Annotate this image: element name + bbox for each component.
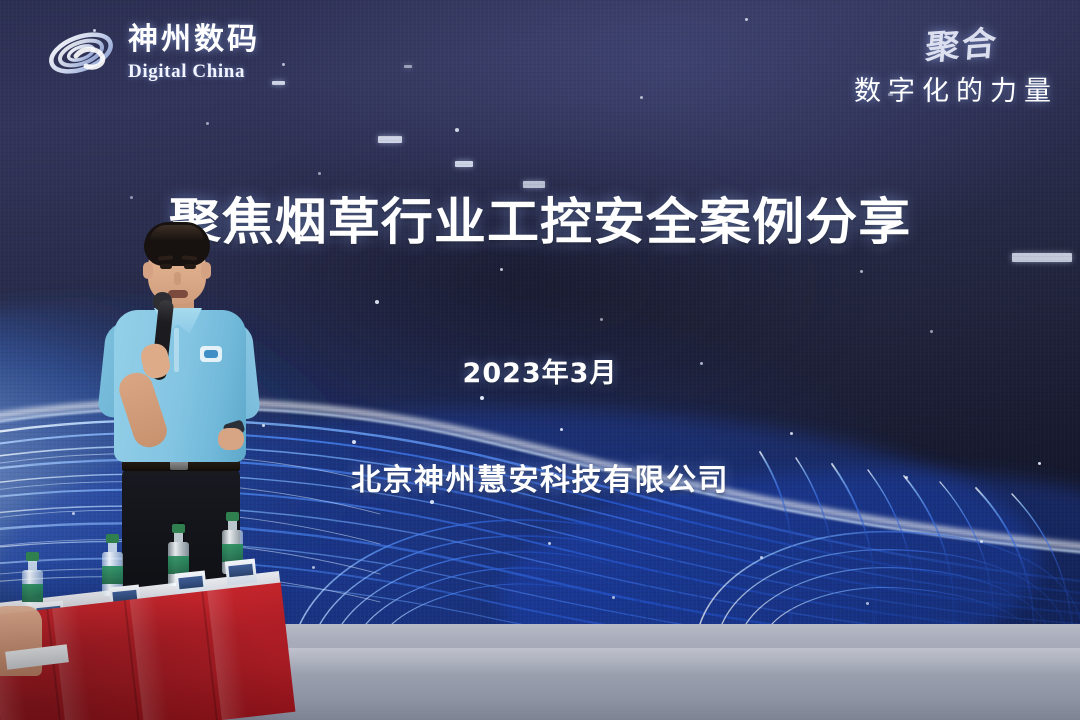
presenter-shirt-logo xyxy=(200,346,222,362)
name-card xyxy=(225,558,257,585)
presenter-hair xyxy=(144,222,210,266)
presenter-right-hand xyxy=(218,428,244,450)
campaign-tagline: 数字化的力量 xyxy=(854,69,1058,108)
digital-china-logo: 神州数码 Digital China xyxy=(46,22,260,84)
presenter-nose xyxy=(174,272,181,285)
presenter-right-eye xyxy=(184,264,196,269)
foreground-head-table xyxy=(0,556,286,720)
brand-name-cn: 神州数码 xyxy=(128,25,260,55)
spiral-e-icon xyxy=(46,22,116,84)
presenter-shirt-placket xyxy=(174,328,179,372)
presenter-left-eye xyxy=(160,264,172,269)
presenter-left-ear xyxy=(143,262,153,279)
campaign-calligraphy: 聚合 xyxy=(924,16,1000,70)
campaign-logo: 聚合 数字化的力量 xyxy=(854,18,1058,108)
brand-name-en: Digital China xyxy=(128,62,260,81)
digital-china-wordmark: 神州数码 Digital China xyxy=(128,25,260,81)
presenter-right-ear xyxy=(201,262,211,279)
conference-stage-photo: 神州数码 Digital China 聚合 数字化的力量 聚焦烟草行业工控安全案… xyxy=(0,0,1080,720)
